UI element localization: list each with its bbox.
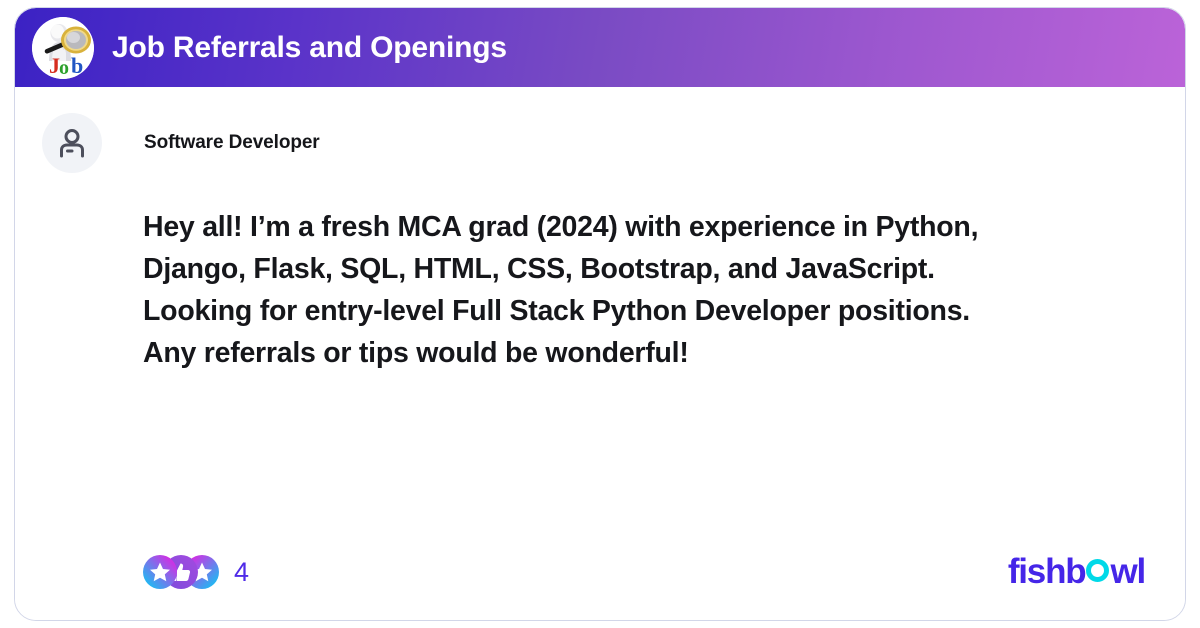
post-line: Django, Flask, SQL, HTML, CSS, Bootstrap… bbox=[143, 248, 1143, 290]
star-reaction-icon[interactable] bbox=[143, 555, 177, 589]
post-line: Any referrals or tips would be wonderful… bbox=[143, 332, 1143, 374]
reaction-icons[interactable] bbox=[143, 555, 219, 589]
group-header: J o b Job Referrals and Openings bbox=[15, 8, 1185, 87]
brand-text-after: wl bbox=[1110, 552, 1145, 592]
avatar bbox=[42, 113, 102, 173]
svg-text:b: b bbox=[71, 53, 83, 78]
group-logo: J o b bbox=[32, 17, 94, 79]
author-row: Software Developer bbox=[42, 113, 1145, 173]
author-name: Software Developer bbox=[144, 132, 320, 154]
reactions-group[interactable]: 4 bbox=[143, 555, 249, 589]
post-content: Software Developer Hey all! I’m a fresh … bbox=[15, 87, 1185, 620]
post-footer: 4 fishb wl bbox=[15, 524, 1185, 620]
brand-text-before: fishb bbox=[1008, 552, 1086, 592]
post-card: J o b Job Referrals and Openings Softwar… bbox=[14, 7, 1186, 621]
group-title: Job Referrals and Openings bbox=[112, 31, 507, 65]
cyan-ring-o-icon bbox=[1086, 559, 1109, 582]
fishbowl-logo: fishb wl bbox=[1008, 552, 1145, 592]
svg-text:o: o bbox=[59, 57, 69, 79]
reaction-count: 4 bbox=[234, 557, 249, 588]
person-icon bbox=[55, 126, 89, 160]
post-line: Hey all! I’m a fresh MCA grad (2024) wit… bbox=[143, 206, 1143, 248]
job-search-magnifier-logo-icon: J o b bbox=[32, 17, 94, 79]
post-body: Hey all! I’m a fresh MCA grad (2024) wit… bbox=[143, 206, 1143, 374]
post-line: Looking for entry-level Full Stack Pytho… bbox=[143, 290, 1143, 332]
